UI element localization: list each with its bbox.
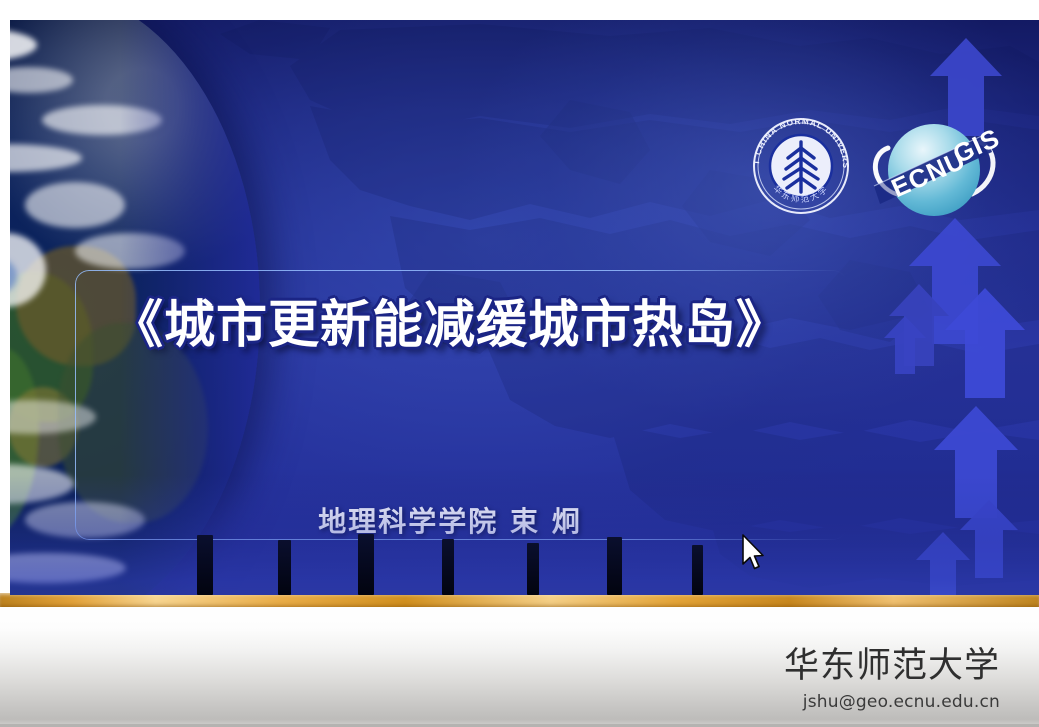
footer-university-name: 华东师范大学 [0,637,1000,688]
slide-artwork: EAST CHINA NORMAL UNIVERSITY 华东师范大学 [10,20,1039,595]
up-arrow-icon [945,288,1025,398]
slide-title: 《城市更新能减缓城市热岛》 [10,283,890,357]
ecnu-gis-logo: ECNU GIS [868,108,1003,230]
mouse-cursor [741,534,767,574]
up-arrow-icon [884,316,926,374]
skyline-silhouette [10,535,1039,595]
gold-divider-bar [0,593,1039,607]
footer-email: jshu@geo.ecnu.edu.cn [0,692,1000,712]
ecnu-seal-logo: EAST CHINA NORMAL UNIVERSITY 华东师范大学 [747,108,855,220]
presentation-slide: EAST CHINA NORMAL UNIVERSITY 华东师范大学 [0,0,1039,727]
